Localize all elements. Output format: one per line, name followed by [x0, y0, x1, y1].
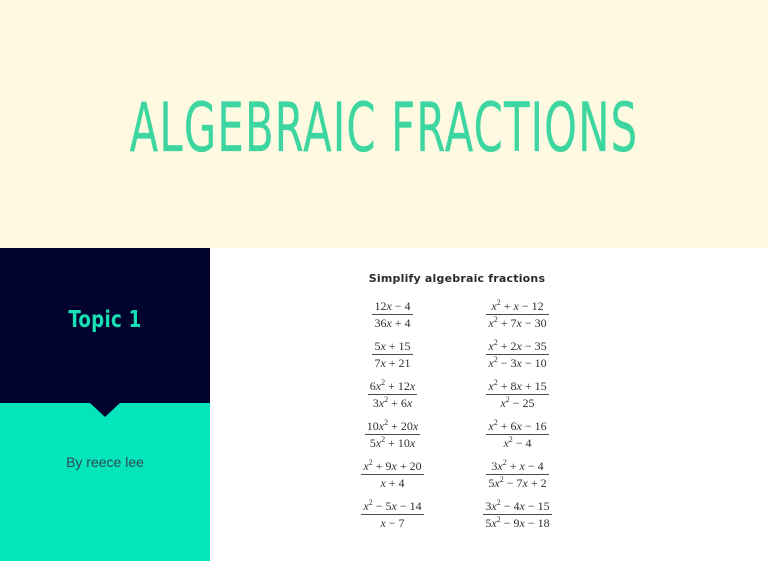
fraction-denominator: 36x + 4: [372, 315, 412, 330]
fraction-numerator: x2 + 9x + 20: [361, 459, 423, 475]
fraction-grid: 12x − 436x + 4x2 + x − 12x2 + 7x − 305x …: [330, 294, 580, 534]
fraction-expression: x2 + 8x + 15x2 − 25: [486, 379, 548, 410]
fraction-denominator: 3x2 + 6x: [368, 395, 417, 410]
fraction-numerator: 10x2 + 20x: [365, 419, 420, 435]
fraction-numerator: x2 + 2x − 35: [486, 339, 548, 355]
fraction-expression: 3x2 + x − 45x2 − 7x + 2: [486, 459, 548, 490]
fraction-numerator: 6x2 + 12x: [368, 379, 417, 395]
fraction-expression: x2 + 9x + 20x + 4: [361, 459, 423, 490]
fraction-numerator: 3x2 − 4x − 15: [483, 499, 551, 515]
fraction-expression: 5x + 157x + 21: [372, 339, 412, 370]
fraction-expression: x2 + 2x − 35x2 − 3x − 10: [486, 339, 548, 370]
sidebar-author-label: By reece lee: [0, 453, 210, 471]
fraction-expression: x2 + 6x − 16x2 − 4: [486, 419, 548, 450]
fraction-numerator: x2 + 6x − 16: [486, 419, 548, 435]
fraction-denominator: 5x2 + 10x: [365, 435, 420, 450]
fraction-expression: 12x − 436x + 4: [372, 299, 412, 330]
fraction-denominator: x2 − 3x − 10: [486, 355, 548, 370]
fraction-denominator: x2 − 25: [486, 395, 548, 410]
fraction-numerator: 3x2 + x − 4: [486, 459, 548, 475]
fraction-denominator: 5x2 − 7x + 2: [486, 475, 548, 490]
fraction-denominator: x − 7: [361, 515, 423, 530]
fraction-expression: 6x2 + 12x3x2 + 6x: [368, 379, 417, 410]
sidebar-topic-label: Topic 1: [13, 307, 198, 333]
fraction-expression: x2 + x − 12x2 + 7x − 30: [486, 299, 548, 330]
presentation-slide: ALGEBRAIC FRACTIONS Topic 1 By reece lee…: [0, 0, 768, 561]
fraction-expression: x2 − 5x − 14x − 7: [361, 499, 423, 530]
fraction-denominator: 5x2 − 9x − 18: [483, 515, 551, 530]
fraction-denominator: x2 − 4: [486, 435, 548, 450]
fraction-denominator: x + 4: [361, 475, 423, 490]
fraction-expression: 10x2 + 20x5x2 + 10x: [365, 419, 420, 450]
fraction-numerator: x2 + x − 12: [486, 299, 548, 315]
fraction-numerator: 12x − 4: [372, 299, 412, 315]
fraction-numerator: 5x + 15: [372, 339, 412, 355]
sidebar-topic-block[interactable]: Topic 1: [0, 248, 210, 403]
worksheet-heading: Simplify algebraic fractions: [330, 272, 580, 286]
page-title: ALGEBRAIC FRACTIONS: [77, 92, 691, 164]
downward-triangle-icon: [90, 403, 120, 417]
fraction-denominator: 7x + 21: [372, 355, 412, 370]
title-banner: ALGEBRAIC FRACTIONS: [0, 0, 768, 248]
fraction-denominator: x2 + 7x − 30: [486, 315, 548, 330]
fraction-numerator: x2 + 8x + 15: [486, 379, 548, 395]
sidebar-author-block: By reece lee: [0, 403, 210, 561]
sidebar: Topic 1 By reece lee: [0, 248, 210, 561]
fraction-numerator: x2 − 5x − 14: [361, 499, 423, 515]
fraction-expression: 3x2 − 4x − 155x2 − 9x − 18: [483, 499, 551, 530]
worksheet-panel: Simplify algebraic fractions 12x − 436x …: [330, 272, 580, 534]
